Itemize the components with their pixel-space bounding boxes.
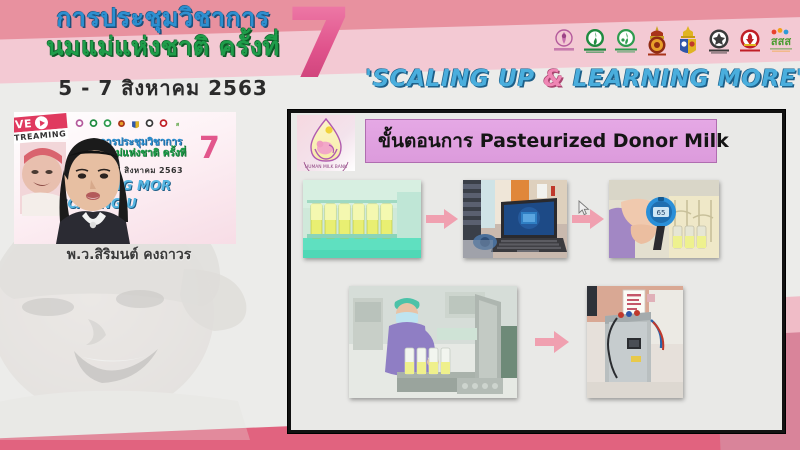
red-seal-logo [737, 26, 763, 56]
live-video-player[interactable]: ส การประชุมวิชาการ นมแม่แห่งชาติ ครั้งที… [14, 112, 236, 244]
ministry-public-health-logo [582, 26, 608, 56]
thai-breastfeeding-foundation-logo [551, 26, 577, 56]
pasteurizer-machine-photo [587, 286, 683, 398]
edition-number: 7 [286, 0, 353, 92]
slogan-prefix: 'SCALING UP [365, 66, 543, 92]
sponsor-logo-strip: สสส [551, 26, 794, 56]
presentation-slide: HUMAN MILK BANK ขั้นตอนการ Pasteurized D… [288, 110, 785, 433]
conference-date: 5 - 7 สิงหาคม 2563 [28, 72, 298, 104]
speaker-name: พ.ว.สิริมนต์ คงถาวร [14, 244, 244, 266]
laptop-monitoring-photo [463, 180, 567, 258]
slide-header: HUMAN MILK BANK ขั้นตอนการ Pasteurized D… [291, 113, 782, 173]
poster-logo-6 [144, 118, 155, 130]
conference-slogan: 'SCALING UP & LEARNING MORE' [365, 66, 795, 92]
slide-title: ขั้นตอนการ Pasteurized Donor Milk [378, 126, 729, 156]
process-flow-row-1: 65 [303, 175, 773, 263]
slogan-ampersand: & [543, 66, 564, 92]
royal-emblem-logo [644, 26, 670, 56]
milk-bottles-rack-photo [303, 180, 421, 258]
nurse-loading-bottles-photo [349, 286, 517, 398]
live-label: VE [14, 117, 32, 131]
poster-edition-number: 7 [199, 134, 220, 164]
screen: การประชุมวิชาการ นมแม่แห่งชาติ ครั้งที่ … [0, 0, 800, 450]
svg-text:HUMAN MILK BANK: HUMAN MILK BANK [305, 164, 347, 170]
slogan-suffix: LEARNING MORE' [564, 66, 800, 92]
thaihealth-sss-logo: สสส [768, 26, 794, 56]
live-streaming-badge: VE TREAMING [14, 113, 70, 157]
flow-arrow-3 [517, 273, 587, 411]
poster-logo-3 [102, 118, 113, 130]
poster-logo-2 [88, 118, 99, 130]
process-flow-row-2 [349, 273, 769, 411]
svg-text:65: 65 [657, 209, 666, 217]
play-icon [34, 116, 48, 130]
human-milk-bank-drop-logo: HUMAN MILK BANK [297, 115, 355, 171]
conference-title: การประชุมวิชาการ นมแม่แห่งชาติ ครั้งที่ [28, 4, 298, 60]
slide-title-box: ขั้นตอนการ Pasteurized Donor Milk [365, 119, 717, 163]
flow-arrow-1 [421, 175, 463, 263]
svg-text:สสส: สสส [771, 35, 791, 48]
garuda-black-logo [706, 26, 732, 56]
mouse-pointer [578, 200, 590, 216]
conference-title-line2: นมแม่แห่งชาติ ครั้งที่ [28, 33, 298, 60]
poster-logo-strip: ส [74, 118, 183, 130]
conference-header: การประชุมวิชาการ นมแม่แห่งชาติ ครั้งที่ … [0, 0, 800, 106]
poster-logo-5 [130, 118, 141, 130]
poster-logo-1 [74, 118, 85, 130]
conference-title-line1: การประชุมวิชาการ [28, 4, 298, 31]
poster-logo-4 [116, 118, 127, 130]
poster-logo-8: ส [172, 118, 183, 130]
svg-text:ส: ส [176, 122, 180, 128]
hand-timer-thermometer-photo: 65 [609, 180, 719, 258]
flow-arrow-2 [567, 175, 609, 263]
royal-crest-logo [675, 26, 701, 56]
department-health-logo [613, 26, 639, 56]
poster-logo-7 [158, 118, 169, 130]
